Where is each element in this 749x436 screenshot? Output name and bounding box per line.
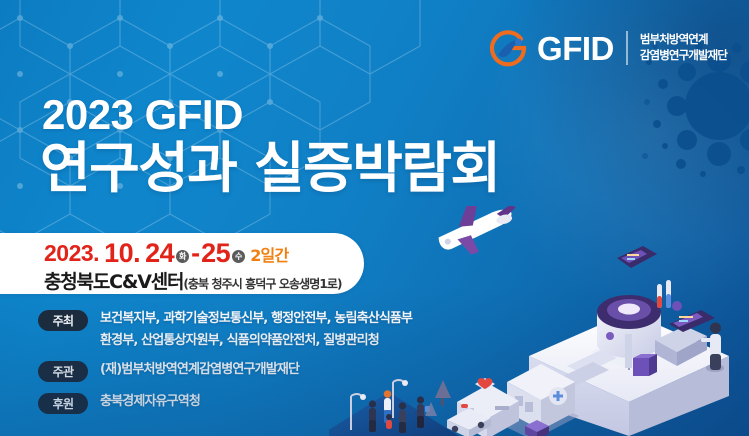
tree-icon [425, 380, 451, 416]
logo-kr-line1: 범부처방역연계 [640, 33, 727, 47]
airplane-icon [432, 206, 524, 261]
date-duration: 2일간 [250, 246, 288, 265]
title-english: 2023 GFID [42, 94, 243, 136]
sponsor-line-1: 충북경제자유구역청 [100, 394, 200, 410]
organizer-line-1: (재)범부처방역연계감염병연구개발재단 [100, 362, 299, 378]
console-worker [633, 310, 724, 376]
date-range-dash: - [191, 239, 200, 267]
host-line-2: 환경부, 산업통상자원부, 식품의약품안전처, 질병관리청 [100, 333, 412, 349]
badge-host: 주최 [38, 310, 88, 331]
logo-wordmark: GFID [537, 32, 614, 65]
crate-icon [525, 420, 549, 436]
info-row-host: 주최 보건복지부, 과학기술정보통신부, 행정안전부, 농림축산식품부 환경부,… [38, 310, 412, 350]
gfid-circle-swoosh-logo-icon [488, 28, 528, 68]
logo-korean-name: 범부처방역연계 감염병연구개발재단 [640, 33, 727, 62]
host-line-1: 보건복지부, 과학기술정보통신부, 행정안전부, 농림축산식품부 [100, 311, 412, 327]
hospital-buildings [457, 364, 579, 436]
person-4 [417, 396, 430, 428]
gfid-logo: GFID 범부처방역연계 감염병연구개발재단 [488, 28, 727, 68]
venue-line: 충청북도C&V센터 (충북 청주시 흥덕구 오송생명1로) [44, 267, 342, 294]
title-korean: 연구성과 실증박람회 [40, 138, 500, 200]
date-day-start: 24 [145, 239, 174, 267]
event-date-line: 2023. 10. 24 화 - 25 수 2일간 [44, 239, 288, 267]
person-5 [386, 414, 392, 429]
date-dow-start-badge: 화 [176, 250, 189, 263]
steps [559, 350, 617, 386]
ambulance-icon [447, 404, 491, 436]
dome-lab-structure [591, 295, 667, 370]
test-tubes-icon [657, 280, 682, 311]
badge-sponsor: 후원 [38, 393, 88, 414]
date-month: 10. [104, 239, 140, 267]
venue-name: 충청북도C&V센터 [44, 267, 183, 294]
venue-address: (충북 청주시 흥덕구 오송생명1로) [183, 275, 341, 292]
poster-canvas: GFID 범부처방역연계 감염병연구개발재단 2023 GFID 연구성과 실증… [0, 0, 749, 436]
info-row-organizer: 주관 (재)범부처방역연계감염병연구개발재단 [38, 361, 412, 382]
date-day-end: 25 [201, 239, 230, 267]
logo-kr-line2: 감염병연구개발재단 [640, 49, 727, 63]
date-year: 2023. [44, 240, 99, 268]
heart-sign-icon [475, 378, 495, 390]
person-at-console [701, 323, 724, 373]
organizer-list: (재)범부처방역연계감염병연구개발재단 [100, 361, 299, 378]
lab-platform [529, 312, 729, 436]
badge-organizer: 주관 [38, 361, 88, 382]
date-venue-pill: 2023. 10. 24 화 - 25 수 2일간 충청북도C&V센터 (충북 … [0, 233, 364, 294]
info-row-sponsor: 후원 충북경제자유구역청 [38, 393, 412, 414]
logo-divider [626, 31, 628, 65]
organizer-info-block: 주최 보건복지부, 과학기술정보통신부, 행정안전부, 농림축산식품부 환경부,… [38, 310, 412, 414]
date-dow-end-badge: 수 [232, 250, 245, 263]
host-list: 보건복지부, 과학기술정보통신부, 행정안전부, 농림축산식품부 환경부, 산업… [100, 310, 412, 350]
floating-screen-icon [617, 246, 657, 268]
sponsor-list: 충북경제자유구역청 [100, 393, 200, 410]
